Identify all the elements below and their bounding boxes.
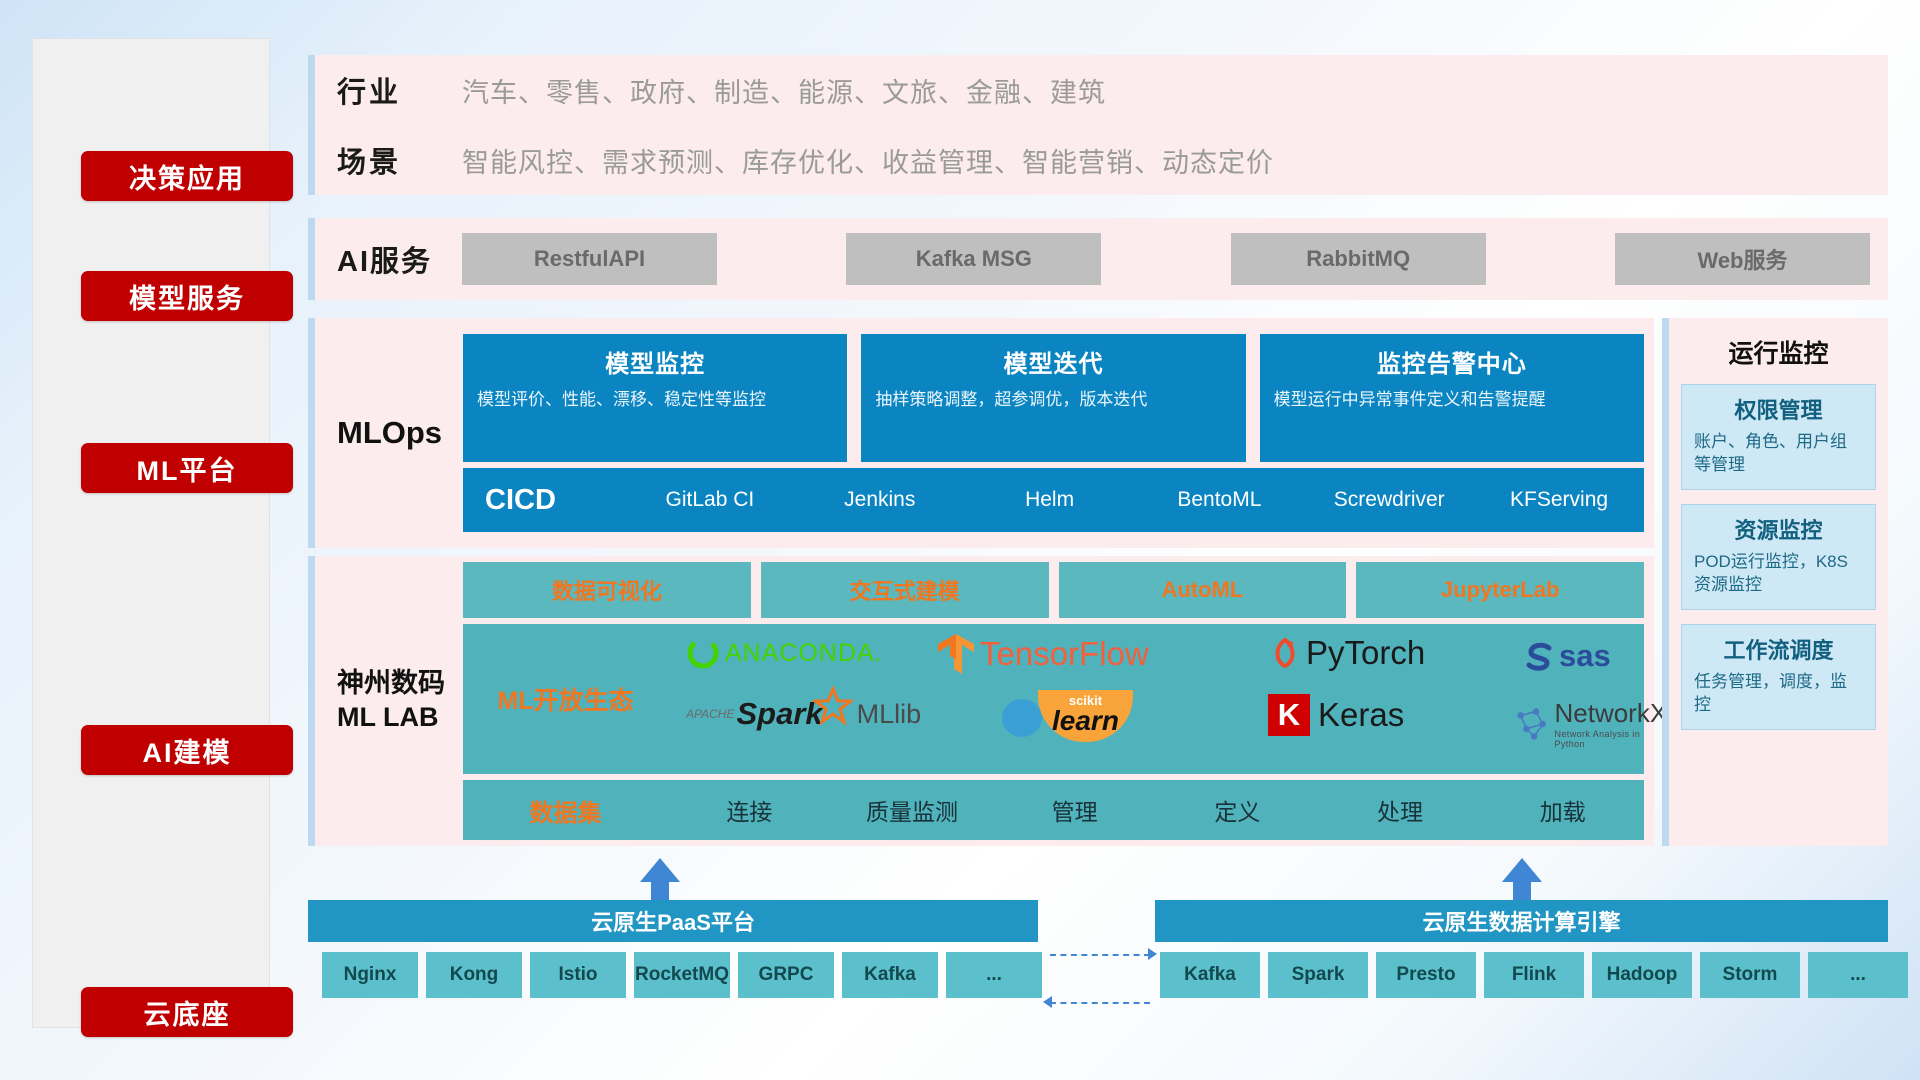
monitor-card-title: 资源监控 [1694,513,1863,545]
dashed-arrowhead-right-icon [1148,948,1157,960]
ai-service-items: RestfulAPI Kafka MSG RabbitMQ Web服务 [462,233,1888,285]
rail-item-model-service[interactable]: 模型服务 [81,271,293,321]
industry-scenario-band: 行业 汽车、零售、政府、制造、能源、文旅、金融、建筑 场景 智能风控、需求预测、… [308,55,1888,195]
keras-logo-mark: K [1268,694,1310,736]
ai-service-key: AI服务 [337,238,462,280]
ml-ecosystem-row: ML开放生态 ANACONDA. [463,624,1644,774]
scenario-key: 场景 [337,139,462,181]
cloud-paas-bar[interactable]: 云原生PaaS平台 [308,900,1038,942]
ml-lab-band: 神州数码 ML LAB 数据可视化 交互式建模 AutoML JupyterLa… [308,556,1654,846]
monitor-card-resource[interactable]: 资源监控 POD运行监控，K8S资源监控 [1681,504,1876,610]
mllib-logo-text: MLlib [857,699,922,730]
cloud-chip-istio[interactable]: Istio [530,952,626,998]
ai-service-chip-rabbitmq[interactable]: RabbitMQ [1231,233,1486,285]
arrow-up-paas-icon [640,858,680,882]
mlops-card-desc: 模型运行中异常事件定义和告警提醒 [1274,389,1630,412]
monitor-panel-title: 运行监控 [1681,334,1876,370]
cloud-paas-title: 云原生PaaS平台 [591,905,755,937]
ml-lab-content: 数据可视化 交互式建模 AutoML JupyterLab ML开放生态 ANA… [463,562,1654,840]
mlops-band: MLOps 模型监控 模型评价、性能、漂移、稳定性等监控 模型迭代 抽样策略调整… [308,318,1654,548]
ai-service-chip-web[interactable]: Web服务 [1615,233,1870,285]
cloud-engine-title: 云原生数据计算引擎 [1422,905,1620,937]
monitor-card-desc: 任务管理，调度，监控 [1694,671,1863,717]
networkx-logo-text: NetworkX [1554,698,1668,729]
dashed-link-left-icon [1050,1002,1150,1004]
cloud-chip-flink[interactable]: Flink [1484,952,1584,998]
rail-item-label: 模型服务 [129,277,245,316]
mlops-card-desc: 模型评价、性能、漂移、稳定性等监控 [477,389,833,412]
monitor-card-title: 工作流调度 [1694,633,1863,665]
ai-service-chip-restfulapi[interactable]: RestfulAPI [462,233,717,285]
industry-value: 汽车、零售、政府、制造、能源、文旅、金融、建筑 [462,71,1106,110]
ml-ecosystem-logos: ANACONDA. TensorFlow [668,624,1644,774]
mlops-card-model-monitoring[interactable]: 模型监控 模型评价、性能、漂移、稳定性等监控 [463,334,847,462]
cloud-chip-nginx[interactable]: Nginx [322,952,418,998]
mlops-cards: 模型监控 模型评价、性能、漂移、稳定性等监控 模型迭代 抽样策略调整，超参调优，… [463,334,1644,462]
cloud-chip-kafka[interactable]: Kafka [842,952,938,998]
cloud-chip-more-engine[interactable]: ... [1808,952,1908,998]
cicd-item-helm[interactable]: Helm [965,489,1135,511]
dataset-item-management[interactable]: 管理 [993,793,1156,827]
scenario-row: 场景 智能风控、需求预测、库存优化、收益管理、智能营销、动态定价 [315,125,1888,195]
dataset-item-connect[interactable]: 连接 [668,793,831,827]
cloud-engine-bar[interactable]: 云原生数据计算引擎 [1155,900,1888,942]
dashed-link-right-icon [1050,954,1150,956]
mlops-content: 模型监控 模型评价、性能、漂移、稳定性等监控 模型迭代 抽样策略调整，超参调优，… [463,334,1654,532]
rail-item-label: 决策应用 [129,157,245,196]
keras-logo-text: Keras [1318,696,1404,734]
cicd-row: CICD GitLab CI Jenkins Helm BentoML Scre… [463,468,1644,532]
layer-rail: 决策应用 模型服务 ML平台 AI建模 云底座 [32,38,270,1028]
mlops-key: MLOps [315,415,463,451]
dataset-label: 数据集 [463,793,668,828]
networkx-logo: NetworkX Network Analysis in Python [1513,698,1669,749]
learn-logo-text: learn [1052,708,1119,733]
cloud-paas-chips: Nginx Kong Istio RocketMQ GRPC Kafka ... [322,952,1042,998]
monitor-card-desc: POD运行监控，K8S资源监控 [1694,551,1863,597]
ml-lab-tabs: 数据可视化 交互式建模 AutoML JupyterLab [463,562,1644,618]
mlops-card-title: 模型监控 [477,344,833,379]
ml-lab-tab-interactive-modeling[interactable]: 交互式建模 [761,562,1049,618]
cloud-chip-grpc[interactable]: GRPC [738,952,834,998]
ml-lab-tab-data-visualization[interactable]: 数据可视化 [463,562,751,618]
cicd-item-jenkins[interactable]: Jenkins [795,489,965,511]
dataset-item-definition[interactable]: 定义 [1156,793,1319,827]
ml-lab-key-line1: 神州数码 [337,667,463,701]
spark-logo-subtext: APACHE [686,707,734,721]
cloud-chip-kong[interactable]: Kong [426,952,522,998]
monitor-card-permission[interactable]: 权限管理 账户、角色、用户组等管理 [1681,384,1876,490]
dataset-items: 连接 质量监测 管理 定义 处理 加载 [668,793,1644,827]
dataset-item-loading[interactable]: 加载 [1481,793,1644,827]
monitor-card-workflow[interactable]: 工作流调度 任务管理，调度，监控 [1681,624,1876,730]
anaconda-logo-text: ANACONDA. [725,639,883,668]
spark-logo-text: Spark [736,696,822,732]
cicd-items: GitLab CI Jenkins Helm BentoML Screwdriv… [625,489,1644,511]
tensorflow-logo-text: TensorFlow [980,635,1149,673]
pytorch-logo: PyTorch [1268,634,1425,672]
dataset-item-quality-monitoring[interactable]: 质量监测 [831,793,994,827]
rail-item-decision-app[interactable]: 决策应用 [81,151,293,201]
cloud-chip-more[interactable]: ... [946,952,1042,998]
mlops-card-title: 监控告警中心 [1274,344,1630,379]
scenario-value: 智能风控、需求预测、库存优化、收益管理、智能营销、动态定价 [462,141,1274,180]
ai-service-chip-kafka-msg[interactable]: Kafka MSG [846,233,1101,285]
ml-ecosystem-label: ML开放生态 [463,681,668,717]
rail-item-label: ML平台 [137,449,238,488]
rail-item-label: AI建模 [143,731,232,770]
scikit-learn-logo: scikit learn [998,690,1133,742]
anaconda-logo: ANACONDA. [686,636,883,670]
sas-logo: sas [1523,638,1611,674]
mlops-card-desc: 抽样策略调整，超参调优，版本迭代 [875,389,1231,412]
industry-key: 行业 [337,69,462,111]
mlops-card-title: 模型迭代 [875,344,1231,379]
pytorch-logo-text: PyTorch [1306,634,1425,672]
rail-item-label: 云底座 [144,993,231,1032]
dataset-row: 数据集 连接 质量监测 管理 定义 处理 加载 [463,780,1644,840]
ml-lab-tab-automl[interactable]: AutoML [1059,562,1347,618]
cicd-title: CICD [485,484,625,517]
mlops-card-alert-center[interactable]: 监控告警中心 模型运行中异常事件定义和告警提醒 [1260,334,1644,462]
cloud-chip-rocketmq[interactable]: RocketMQ [634,952,730,998]
cloud-chip-hadoop[interactable]: Hadoop [1592,952,1692,998]
keras-logo: K Keras [1268,694,1404,736]
arrow-up-engine-icon [1502,858,1542,882]
cloud-chip-storm[interactable]: Storm [1700,952,1800,998]
monitor-card-title: 权限管理 [1694,393,1863,425]
cicd-item-bentoml[interactable]: BentoML [1134,489,1304,511]
cloud-chip-kafka-engine[interactable]: Kafka [1160,952,1260,998]
networkx-logo-subtext: Network Analysis in Python [1554,729,1668,749]
rail-item-ai-modeling[interactable]: AI建模 [81,725,293,775]
industry-row: 行业 汽车、零售、政府、制造、能源、文旅、金融、建筑 [315,55,1888,125]
dashed-arrowhead-left-icon [1043,996,1052,1008]
sas-logo-text: sas [1559,638,1611,674]
spark-mllib-logo: APACHE Spark MLlib [686,696,921,732]
rail-item-cloud-base[interactable]: 云底座 [81,987,293,1037]
tensorflow-logo: TensorFlow [936,632,1149,676]
mlops-card-model-iteration[interactable]: 模型迭代 抽样策略调整，超参调优，版本迭代 [861,334,1245,462]
ai-service-band: AI服务 RestfulAPI Kafka MSG RabbitMQ Web服务 [308,218,1888,300]
cloud-chip-presto[interactable]: Presto [1376,952,1476,998]
monitor-panel: 运行监控 权限管理 账户、角色、用户组等管理 资源监控 POD运行监控，K8S资… [1662,318,1888,846]
monitor-card-desc: 账户、角色、用户组等管理 [1694,431,1863,477]
cicd-item-screwdriver[interactable]: Screwdriver [1304,489,1474,511]
cicd-item-kfserving[interactable]: KFServing [1474,489,1644,511]
ml-lab-tab-jupyterlab[interactable]: JupyterLab [1356,562,1644,618]
ml-lab-key-line2: ML LAB [337,701,463,735]
cicd-item-gitlab-ci[interactable]: GitLab CI [625,489,795,511]
cloud-engine-chips: Kafka Spark Presto Flink Hadoop Storm ..… [1160,952,1908,998]
cloud-chip-spark[interactable]: Spark [1268,952,1368,998]
dataset-item-processing[interactable]: 处理 [1319,793,1482,827]
ml-lab-key: 神州数码 ML LAB [315,667,463,735]
rail-item-ml-platform[interactable]: ML平台 [81,443,293,493]
